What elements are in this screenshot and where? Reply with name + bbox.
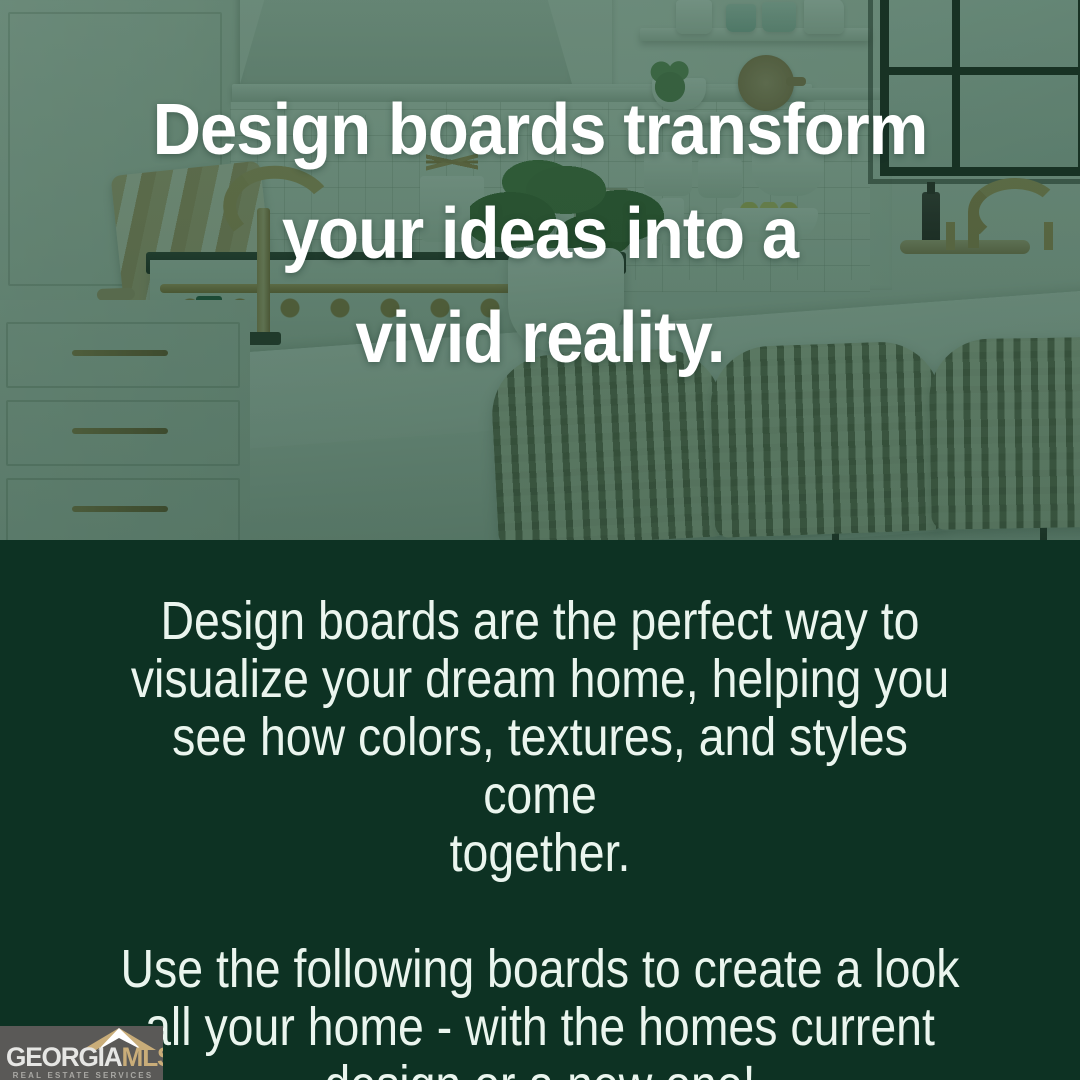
logo-wordmark: GEORGIAMLS	[6, 1044, 153, 1070]
georgia-mls-logo[interactable]: GEORGIAMLS REAL ESTATE SERVICES	[0, 1026, 163, 1080]
hero-headline: Design boards transform your ideas into …	[38, 78, 1042, 390]
headline-line-1: Design boards transform	[38, 78, 1042, 182]
logo-name-mls: MLS	[122, 1042, 163, 1072]
body-paragraph-2: Use the following boards to create a loo…	[110, 940, 970, 1080]
body-paragraph-1: Design boards are the perfect way to vis…	[110, 592, 970, 882]
logo-tagline: REAL ESTATE SERVICES	[8, 1071, 158, 1080]
headline-line-2: your ideas into a	[38, 182, 1042, 286]
social-graphic-canvas: Design boards transform your ideas into …	[0, 0, 1080, 1080]
message-panel: Design boards are the perfect way to vis…	[0, 540, 1080, 1080]
body-copy: Design boards are the perfect way to vis…	[110, 592, 970, 1080]
logo-name-georgia: GEORGIA	[6, 1042, 122, 1072]
headline-line-3: vivid reality.	[38, 286, 1042, 390]
